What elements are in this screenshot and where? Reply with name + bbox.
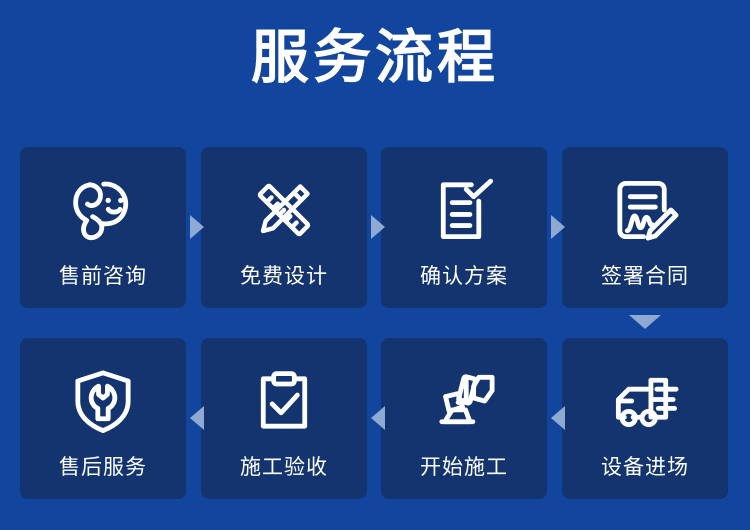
contract-signature-pen-icon: [562, 167, 728, 253]
clipboard-check-icon: [201, 358, 367, 444]
phone-smiley-icon: [20, 167, 186, 253]
steps-grid: 售前咨询 免费设计: [20, 147, 730, 507]
step-label: 售前咨询: [20, 263, 186, 291]
step-card-construction-acceptance[interactable]: 施工验收: [201, 338, 367, 499]
pencil-ruler-icon: [201, 167, 367, 253]
step-card-start-construction[interactable]: 开始施工: [381, 338, 547, 499]
page-title: 服务流程: [0, 22, 750, 94]
arrow-step1-to-step2-icon: [190, 215, 204, 239]
checklist-document-icon: [381, 167, 547, 253]
shield-wrench-icon: [20, 358, 186, 444]
arrow-step7-to-step8-icon: [190, 406, 204, 430]
step-label: 签署合同: [562, 263, 728, 291]
step-card-sign-contract[interactable]: 签署合同: [562, 147, 728, 308]
step-label: 开始施工: [381, 454, 547, 482]
step-card-equipment-arrival[interactable]: 设备进场: [562, 338, 728, 499]
step-card-after-sales-service[interactable]: 售后服务: [20, 338, 186, 499]
excavator-icon: [381, 358, 547, 444]
step-label: 确认方案: [381, 263, 547, 291]
step-label: 施工验收: [201, 454, 367, 482]
step-card-confirm-plan[interactable]: 确认方案: [381, 147, 547, 308]
delivery-truck-icon: [562, 358, 728, 444]
step-label: 免费设计: [201, 263, 367, 291]
step-card-pre-sales-consultation[interactable]: 售前咨询: [20, 147, 186, 308]
arrow-step5-to-step6-icon: [551, 406, 565, 430]
arrow-step2-to-step3-icon: [371, 215, 385, 239]
step-label: 售后服务: [20, 454, 186, 482]
step-card-free-design[interactable]: 免费设计: [201, 147, 367, 308]
arrow-step3-to-step4-icon: [551, 215, 565, 239]
arrow-step4-to-step5-icon: [629, 315, 661, 329]
arrow-step6-to-step7-icon: [371, 406, 385, 430]
step-label: 设备进场: [562, 454, 728, 482]
service-process-infographic: 服务流程 售前咨询: [0, 0, 750, 530]
